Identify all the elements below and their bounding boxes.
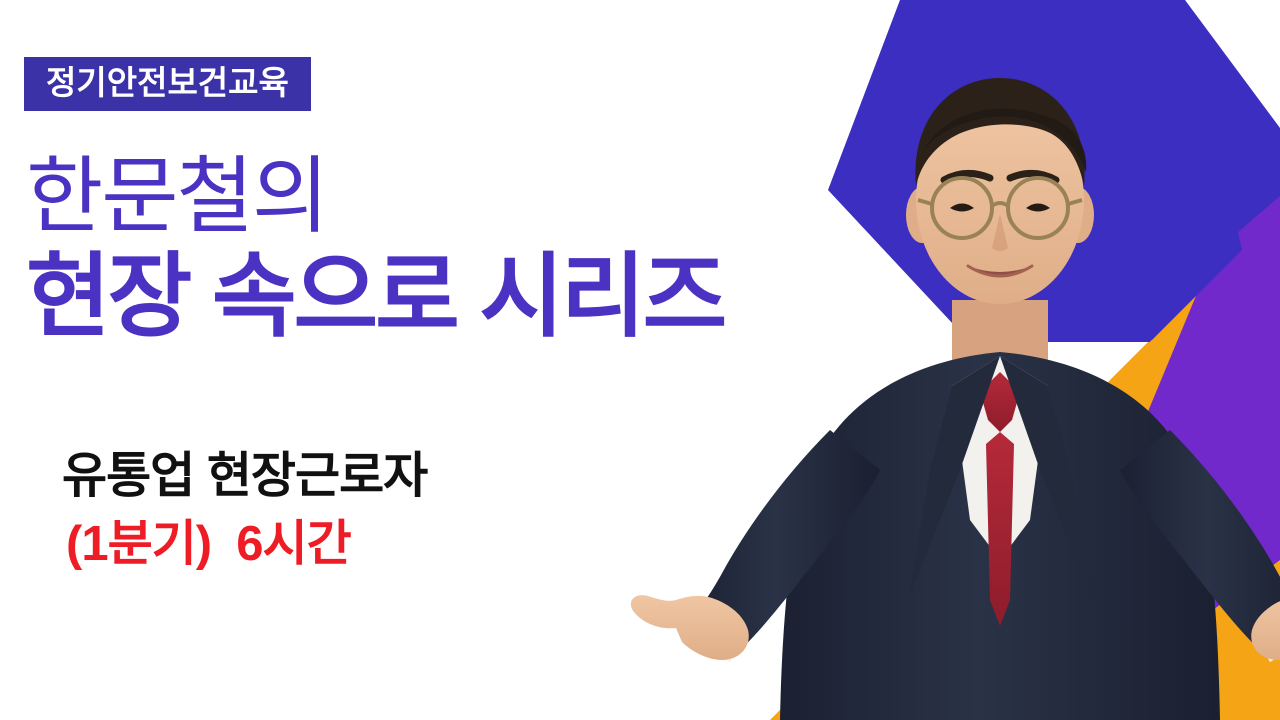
subtitle-spacer bbox=[211, 517, 236, 571]
category-badge: 정기안전보건교육 bbox=[24, 57, 311, 111]
title-line-2: 현장 속으로 시리즈 bbox=[26, 246, 724, 349]
thumbnail-canvas: 정기안전보건교육 한문철의 현장 속으로 시리즈 유통업 현장근로자 (1분기)… bbox=[0, 0, 1280, 720]
subtitle-block: 유통업 현장근로자 (1분기) 6시간 bbox=[62, 448, 427, 574]
subtitle-course-audience: 유통업 현장근로자 bbox=[62, 448, 427, 506]
subtitle-hours: 6시간 bbox=[236, 517, 350, 571]
title-block: 한문철의 현장 속으로 시리즈 bbox=[26, 150, 724, 349]
subtitle-course-duration: (1분기) 6시간 bbox=[66, 516, 427, 574]
subtitle-quarter: (1분기) bbox=[66, 517, 211, 571]
title-line-1: 한문철의 bbox=[26, 150, 724, 242]
